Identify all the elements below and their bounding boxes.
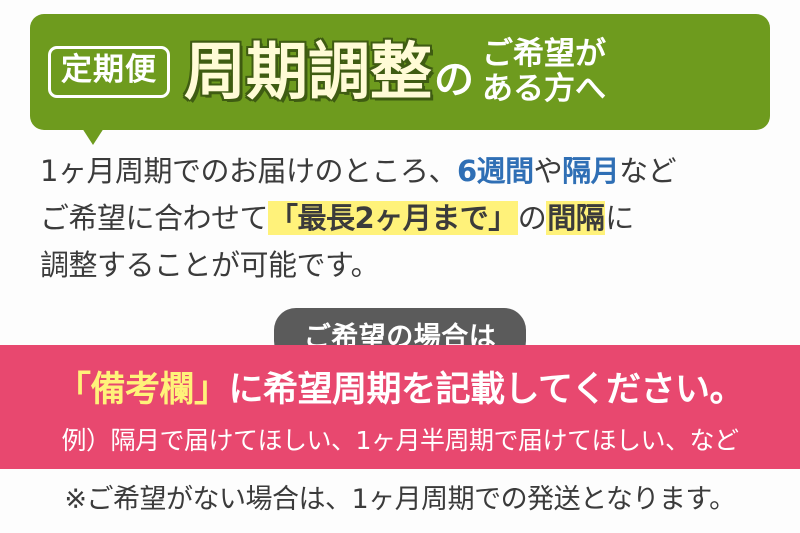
body-line1-highlight-bimonthly: 隔月 [562, 154, 619, 188]
subscription-badge: 定期便 [48, 46, 170, 98]
body-line2-part-a: ご希望に合わせて [40, 201, 268, 235]
headline-particle: の [434, 57, 474, 103]
banner-pointer-tail [82, 128, 104, 145]
body-copy-line-2: ご希望に合わせて「最長2ヶ月まで」の間隔に [40, 195, 770, 242]
instruction-highlight-remarks: 「備考欄」 [56, 370, 229, 410]
instruction-example: 例）隔月で届けてほしい、1ヶ月半周期で届けてほしい、など [0, 421, 800, 457]
body-line2-part-e: に [605, 201, 634, 235]
body-line1-part-e: など [619, 154, 676, 188]
footer-note: ※ご希望がない場合は、1ヶ月周期での発送となります。 [0, 477, 800, 516]
header-banner: 定期便 周期調整の ご希望が ある方へ [30, 14, 770, 130]
body-line1-part-a: 1ヶ月周期でのお届けのところ、 [40, 154, 457, 188]
body-copy-line-3: 調整することが可能です。 [40, 242, 770, 289]
body-line2-part-c: の [518, 201, 547, 235]
body-copy: 1ヶ月周期でのお届けのところ、6週間や隔月など ご希望に合わせて「最長2ヶ月まで… [40, 148, 770, 289]
instruction-headline: 「備考欄」に希望周期を記載してください。 [0, 361, 800, 412]
header-banner-body: 定期便 周期調整の ご希望が ある方へ [30, 14, 770, 130]
body-line2-highlight-max: 「最長2ヶ月まで」 [268, 201, 518, 235]
body-line2-highlight-interval: 間隔 [546, 201, 605, 235]
instruction-headline-rest: に希望周期を記載してください。 [229, 370, 744, 410]
headline-subtext-line2: ある方へ [482, 72, 752, 107]
headline-subtext-line1: ご希望が [482, 37, 752, 72]
promo-page: 定期便 周期調整の ご希望が ある方へ 1ヶ月周期でのお届けのところ、6週間や隔… [0, 0, 800, 533]
body-line1-highlight-6weeks: 6週間 [457, 154, 534, 188]
body-line1-part-c: や [534, 154, 563, 188]
instruction-band: 「備考欄」に希望周期を記載してください。 例）隔月で届けてほしい、1ヶ月半周期で… [0, 345, 800, 469]
headline-main-text: 周期調整 [184, 35, 432, 108]
body-copy-line-1: 1ヶ月周期でのお届けのところ、6週間や隔月など [40, 148, 770, 195]
headline-subtext: ご希望が ある方へ [474, 37, 752, 106]
headline-main: 周期調整の [184, 41, 474, 103]
